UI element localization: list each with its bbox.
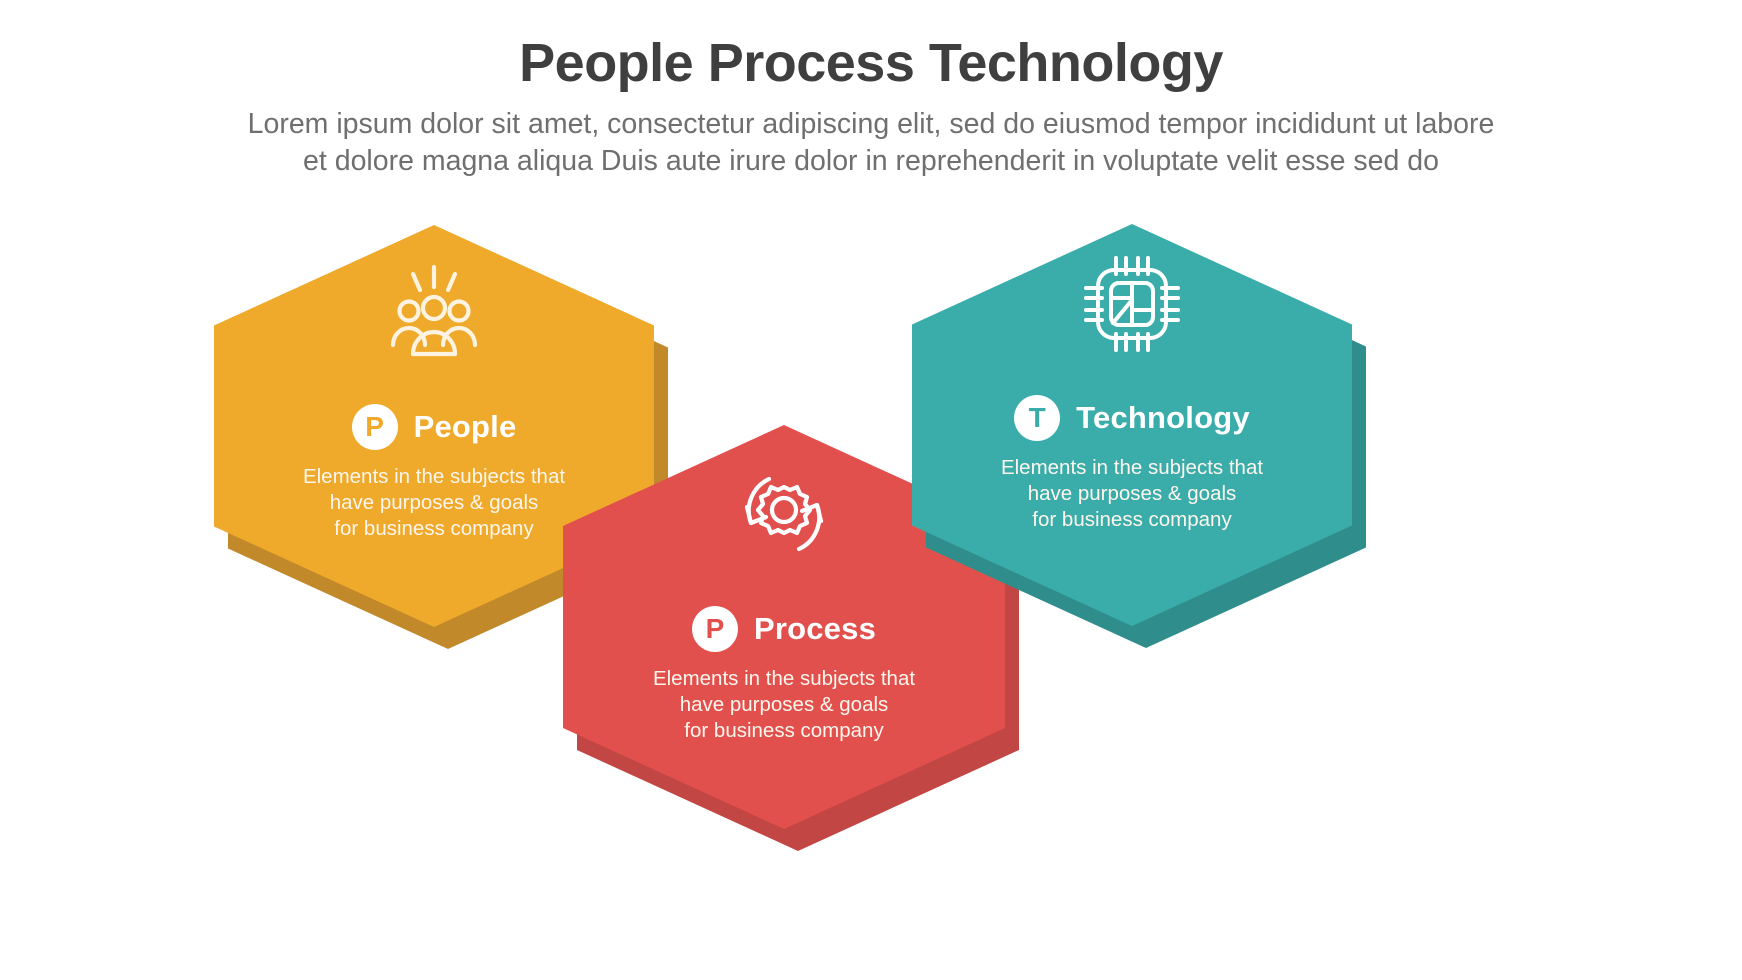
card-process-description: Elements in the subjects that have purpo…: [653, 666, 915, 745]
badge-process: P: [692, 606, 738, 652]
card-people-desc-line-1: Elements in the subjects that: [303, 464, 565, 490]
card-people-label-row: P People: [352, 404, 517, 450]
card-process-desc-line-1: Elements in the subjects that: [653, 666, 915, 692]
people-group-icon: [382, 261, 486, 370]
card-people-description: Elements in the subjects that have purpo…: [303, 464, 565, 543]
badge-technology: T: [1014, 395, 1060, 441]
card-technology-content: T Technology Elements in the subjects th…: [912, 224, 1352, 626]
card-process-desc-line-2: have purposes & goals: [653, 692, 915, 718]
badge-people: P: [352, 404, 398, 450]
card-technology[interactable]: T Technology Elements in the subjects th…: [912, 224, 1352, 626]
card-technology-label-row: T Technology: [1014, 395, 1250, 441]
card-technology-desc-line-1: Elements in the subjects that: [1001, 455, 1263, 481]
card-people-title: People: [414, 409, 517, 445]
card-technology-description: Elements in the subjects that have purpo…: [1001, 455, 1263, 534]
gear-cycle-icon: [731, 461, 837, 572]
hexagon-stage: P People Elements in the subjects that h…: [0, 0, 1742, 980]
card-people-desc-line-3: for business company: [303, 516, 565, 542]
card-technology-desc-line-2: have purposes & goals: [1001, 481, 1263, 507]
card-process-label-row: P Process: [692, 606, 876, 652]
card-technology-title: Technology: [1076, 400, 1250, 436]
card-process-title: Process: [754, 611, 876, 647]
cpu-chip-icon: [1082, 254, 1182, 359]
card-process-desc-line-3: for business company: [653, 718, 915, 744]
card-technology-desc-line-3: for business company: [1001, 507, 1263, 533]
infographic-canvas: People Process Technology Lorem ipsum do…: [0, 0, 1742, 980]
card-people-desc-line-2: have purposes & goals: [303, 490, 565, 516]
